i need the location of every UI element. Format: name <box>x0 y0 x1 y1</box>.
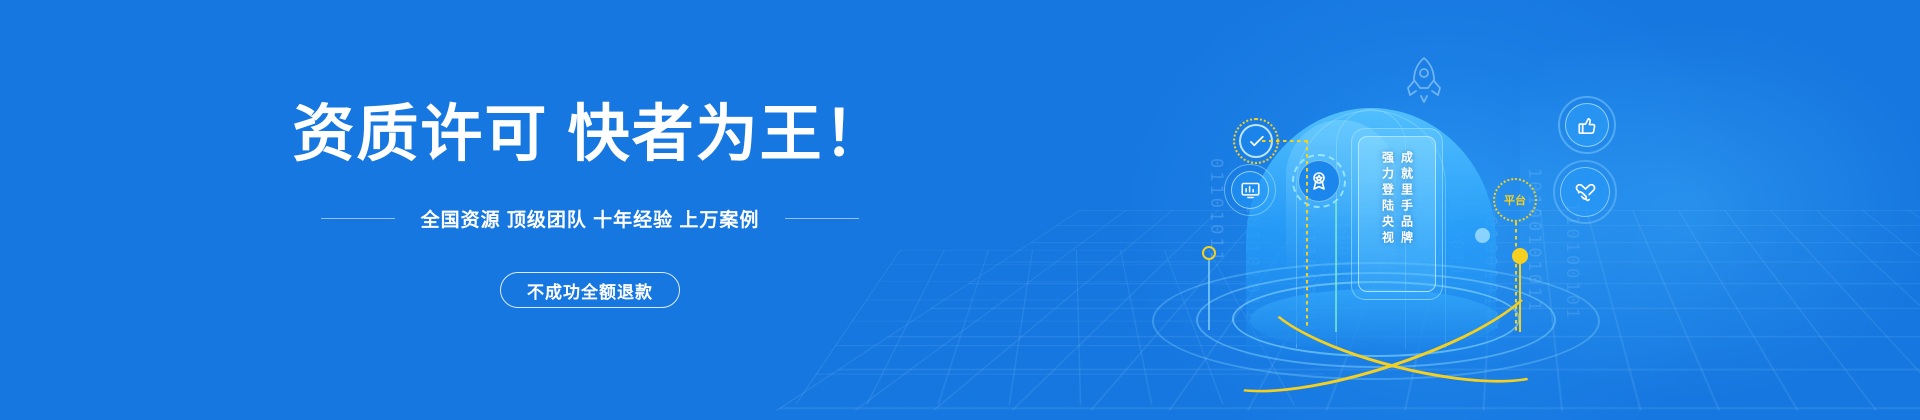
cta-wrapper: 不成功全额退款 <box>0 272 1180 308</box>
binary-column: 010010101 <box>1480 216 1500 330</box>
check-circle-icon <box>1239 124 1273 158</box>
thumbs-up-icon <box>1565 103 1609 147</box>
subtitle-row: 全国资源 顶级团队 十年经验 上万案例 <box>0 205 1180 232</box>
pin-stem-left <box>1208 260 1210 330</box>
handshake-heart-icon <box>1560 167 1610 217</box>
binary-column: 01101011 <box>1206 158 1226 264</box>
phone-slogan-line-2: 强力登陆央视 <box>1382 151 1394 247</box>
hero-banner: 01101011 0101101011 0111000110 100011010… <box>0 0 1920 420</box>
pin-head-left-hollow <box>1202 246 1216 260</box>
binary-column: 0111000110 <box>1298 206 1318 330</box>
pin-stem-center <box>1335 202 1337 332</box>
phone-slogan-line-1: 成就里手品牌 <box>1401 151 1413 247</box>
binary-column: 0010011 <box>1446 186 1466 279</box>
platform-badge: 平台 <box>1493 178 1537 222</box>
refund-guarantee-button[interactable]: 不成功全额退款 <box>500 272 680 308</box>
page-title: 资质许可 快者为王！ <box>0 104 1180 166</box>
rocket-icon <box>1404 55 1444 103</box>
pin-stem-right <box>1519 262 1521 332</box>
subtitle-text: 全国资源 顶级团队 十年经验 上万案例 <box>421 205 760 232</box>
phone-screen: 成就里手品牌 强力登陆央视 <box>1358 136 1436 292</box>
phone-card: 成就里手品牌 强力登陆央视 <box>1351 128 1443 300</box>
platform-badge-label: 平台 <box>1504 192 1526 208</box>
binary-column: 110100101 <box>1562 202 1582 321</box>
subtitle-rule-right <box>785 218 859 219</box>
pin-head-right-solid <box>1512 248 1528 264</box>
accent-dot-cyan <box>1475 228 1490 243</box>
subtitle-rule-left <box>321 218 395 219</box>
binary-column: 0101101011 <box>1242 190 1262 322</box>
phone-slogan: 成就里手品牌 强力登陆央视 <box>1359 151 1435 247</box>
hero-text-block: 资质许可 快者为王！ 全国资源 顶级团队 十年经验 上万案例 不成功全额退款 <box>0 0 1180 420</box>
monitor-chart-icon <box>1231 171 1269 209</box>
medal-award-icon <box>1298 160 1340 202</box>
connector-dotted-column-right <box>1515 222 1517 334</box>
